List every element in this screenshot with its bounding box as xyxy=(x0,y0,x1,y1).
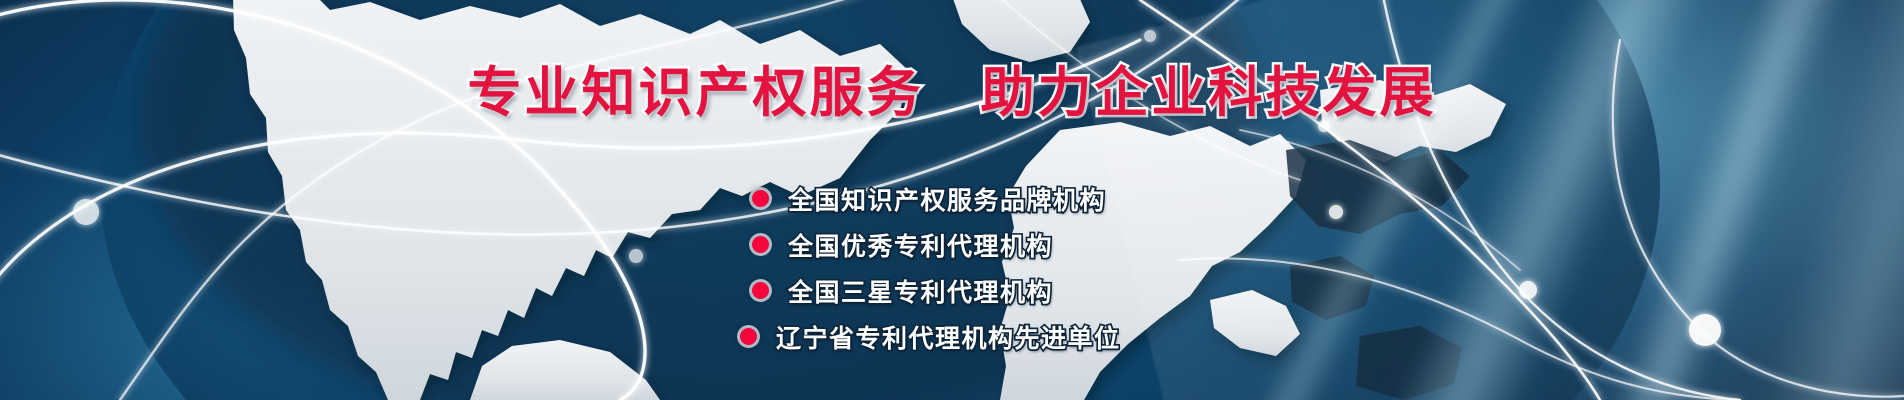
red-bullet-dot-icon xyxy=(752,190,769,207)
list-item-label: 全国知识产权服务品牌机构 xyxy=(788,181,1106,217)
list-item: 全国优秀专利代理机构 xyxy=(752,222,1121,267)
banner-highlights-list: 全国知识产权服务品牌机构 全国优秀专利代理机构 全国三星专利代理机构 辽宁省专利… xyxy=(752,176,1121,359)
list-item: 辽宁省专利代理机构先进单位 xyxy=(740,314,1121,359)
red-bullet-dot-icon xyxy=(740,328,757,345)
red-bullet-dot-icon xyxy=(752,282,769,299)
network-node-6 xyxy=(629,249,643,263)
red-bullet-dot-icon xyxy=(752,236,769,253)
list-item: 全国三星专利代理机构 xyxy=(752,268,1121,313)
list-item: 全国知识产权服务品牌机构 xyxy=(752,176,1121,221)
list-item-label: 辽宁省专利代理机构先进单位 xyxy=(776,319,1121,355)
promotional-banner: 专业知识产权服务 助力企业科技发展 全国知识产权服务品牌机构 全国优秀专利代理机… xyxy=(0,0,1904,400)
list-item-label: 全国优秀专利代理机构 xyxy=(788,227,1053,263)
list-item-label: 全国三星专利代理机构 xyxy=(788,273,1053,309)
network-node-5 xyxy=(73,199,99,225)
